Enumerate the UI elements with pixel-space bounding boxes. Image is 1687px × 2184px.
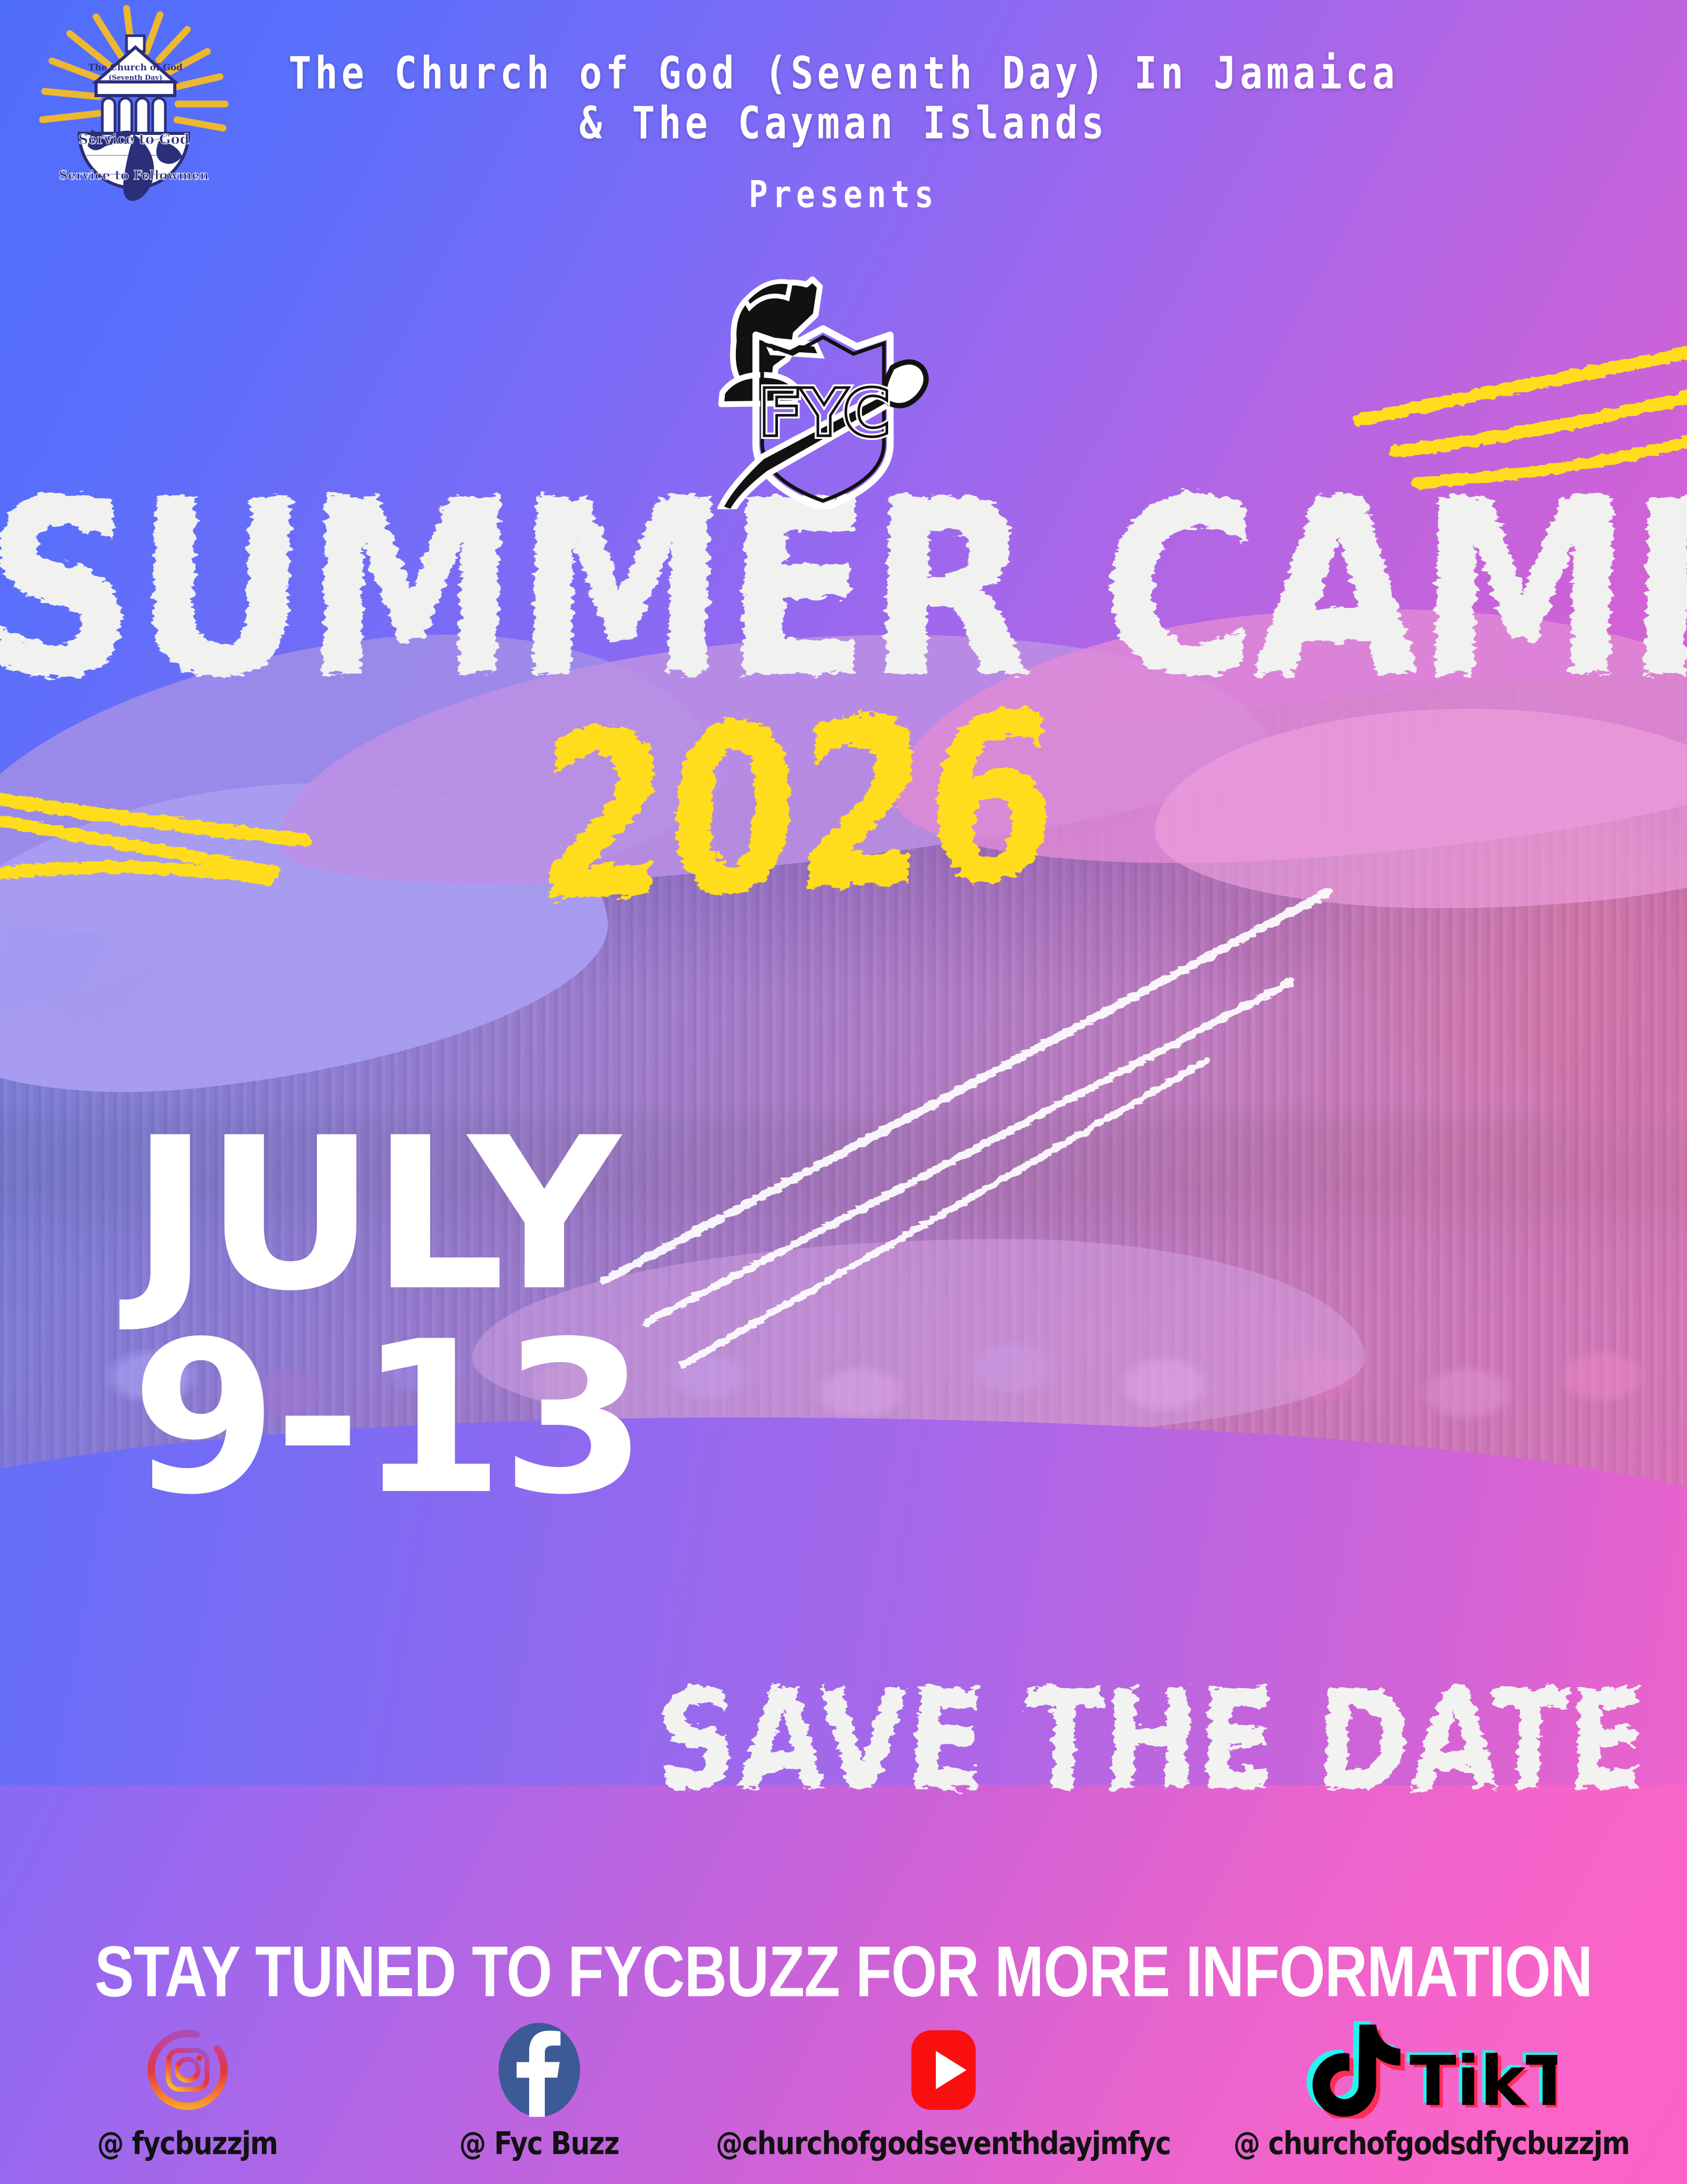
instagram-handle[interactable]: @ fycbuzzjm — [97, 2125, 278, 2161]
tiktok-icon[interactable]: TikTok TikTok TikTok — [1305, 2021, 1557, 2118]
logo-building-line2: (Seventh Day) — [109, 74, 162, 82]
logo-building-line1: The Church of God — [88, 62, 183, 73]
date-block: JULY 9-13 — [131, 1121, 644, 1514]
presents-label: Presents — [0, 173, 1687, 217]
logo-globe-text-top: Service to God — [78, 132, 189, 148]
main-title: SUMMER CAMP — [0, 478, 1687, 702]
title-block: SUMMER CAMP — [0, 493, 1687, 687]
tiktok-handle[interactable]: @ churchofgodsdfycbuzzjm — [1233, 2125, 1629, 2161]
fyc-shield-letters: FYC — [758, 374, 888, 451]
year-title: 2026 — [532, 663, 1061, 954]
save-the-date-text: SAVE THE DATE — [654, 1660, 1649, 1821]
instagram-icon[interactable] — [139, 2021, 236, 2118]
social-youtube[interactable]: @churchofgodseventhdayjmfyc — [707, 2021, 1179, 2160]
fyc-logo: FYC FYC — [672, 262, 945, 509]
social-links-row: @ fycbuzzjm @ Fyc Buzz — [0, 2021, 1687, 2160]
logo-globe-text-bottom: Service to Fellowmen — [59, 167, 209, 183]
facebook-handle[interactable]: @ Fyc Buzz — [459, 2125, 619, 2161]
youtube-icon[interactable] — [898, 2021, 989, 2118]
organisation-line-2: & The Cayman Islands — [161, 93, 1526, 152]
youtube-handle[interactable]: @churchofgodseventhdayjmfyc — [716, 2125, 1171, 2161]
date-month: JULY — [131, 1121, 644, 1310]
header-block: The Church of God (Seventh Day) In Jamai… — [0, 48, 1687, 213]
tiktok-wordmark: TikTok — [1410, 2041, 1557, 2118]
facebook-icon[interactable] — [496, 2021, 583, 2118]
summer-camp-poster: The Church of God (Seventh Day) Service … — [0, 0, 1687, 2184]
social-facebook[interactable]: @ Fyc Buzz — [371, 2021, 707, 2160]
sword-hilt-icon — [884, 362, 926, 405]
social-tiktok[interactable]: TikTok TikTok TikTok @ churchofgodsdfycb… — [1179, 2021, 1683, 2160]
footer-block: STAY TUNED TO FYCBUZZ FOR MORE INFORMATI… — [0, 1921, 1687, 2184]
globe-icon: Service to God Service to Fellowmen — [59, 129, 209, 201]
social-instagram[interactable]: @ fycbuzzjm — [4, 2021, 371, 2160]
date-range: 9-13 — [131, 1325, 644, 1514]
stay-tuned-text: STAY TUNED TO FYCBUZZ FOR MORE INFORMATI… — [25, 1930, 1662, 2013]
church-of-god-logo: The Church of God (Seventh Day) Service … — [29, 3, 239, 224]
year-block: 2026 — [0, 698, 1687, 918]
